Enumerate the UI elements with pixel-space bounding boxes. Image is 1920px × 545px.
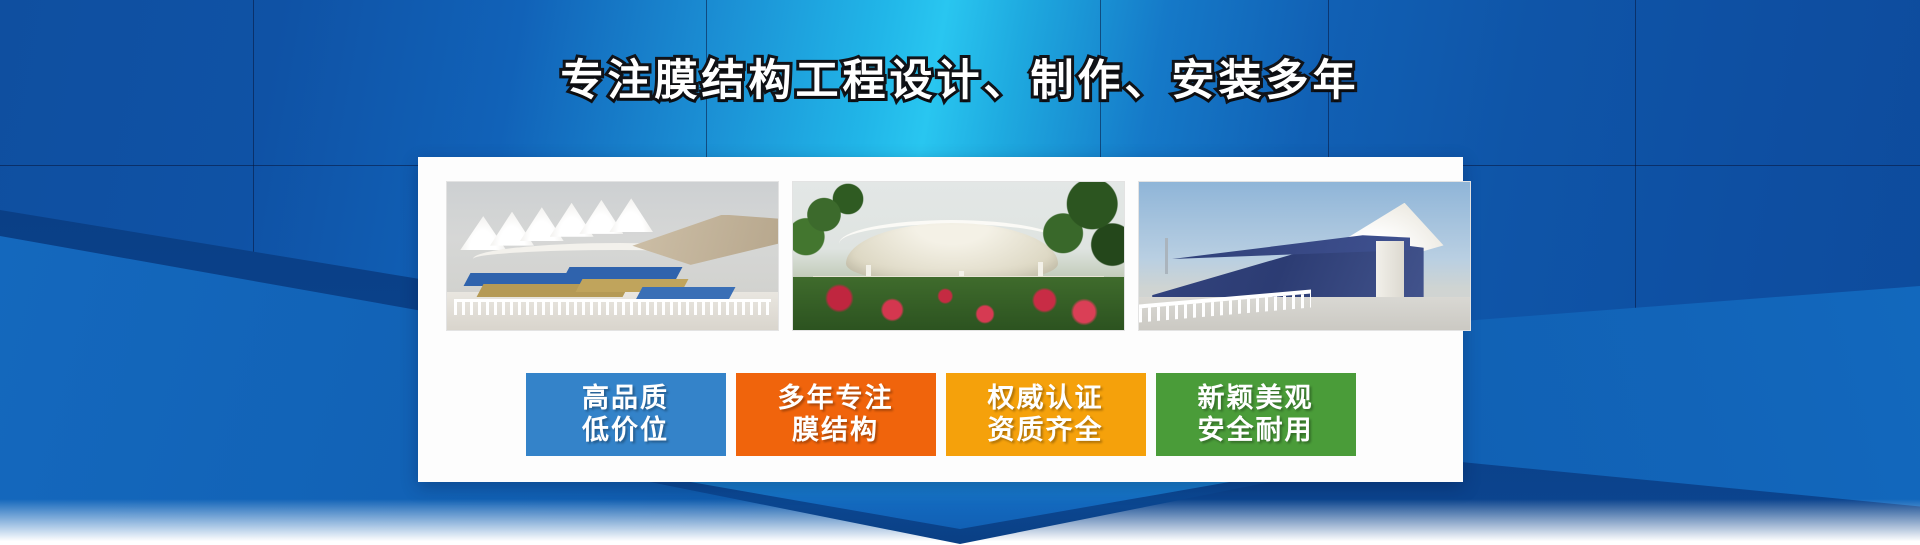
feature-badge-certification[interactable]: 权威认证 资质齐全 [946, 373, 1146, 456]
photo-blue-steel-grandstand[interactable] [1138, 181, 1471, 331]
badge-line-2: 安全耐用 [1198, 415, 1314, 447]
content-card: 高品质 低价位 多年专注 膜结构 权威认证 资质齐全 新颖美观 安全耐用 [418, 157, 1463, 482]
feature-badge-design[interactable]: 新颖美观 安全耐用 [1156, 373, 1356, 456]
feature-badge-list: 高品质 低价位 多年专注 膜结构 权威认证 资质齐全 新颖美观 安全耐用 [446, 373, 1435, 456]
badge-line-2: 资质齐全 [988, 415, 1104, 447]
photo-grandstand-white-canopies[interactable] [446, 181, 779, 331]
badge-line-1: 新颖美观 [1198, 383, 1314, 415]
badge-line-1: 多年专注 [778, 383, 894, 415]
badge-line-2: 低价位 [582, 415, 669, 447]
badge-line-2: 膜结构 [792, 415, 879, 447]
photo-gallery [446, 181, 1471, 331]
badge-line-1: 权威认证 [988, 383, 1104, 415]
badge-line-1: 高品质 [582, 383, 669, 415]
feature-badge-experience[interactable]: 多年专注 膜结构 [736, 373, 936, 456]
page-title: 专注膜结构工程设计、制作、安装多年 [0, 46, 1920, 108]
photo-curved-canopy-garden[interactable] [792, 181, 1125, 331]
feature-badge-quality[interactable]: 高品质 低价位 [526, 373, 726, 456]
hero-banner: 专注膜结构工程设计、制作、安装多年 [0, 0, 1920, 545]
